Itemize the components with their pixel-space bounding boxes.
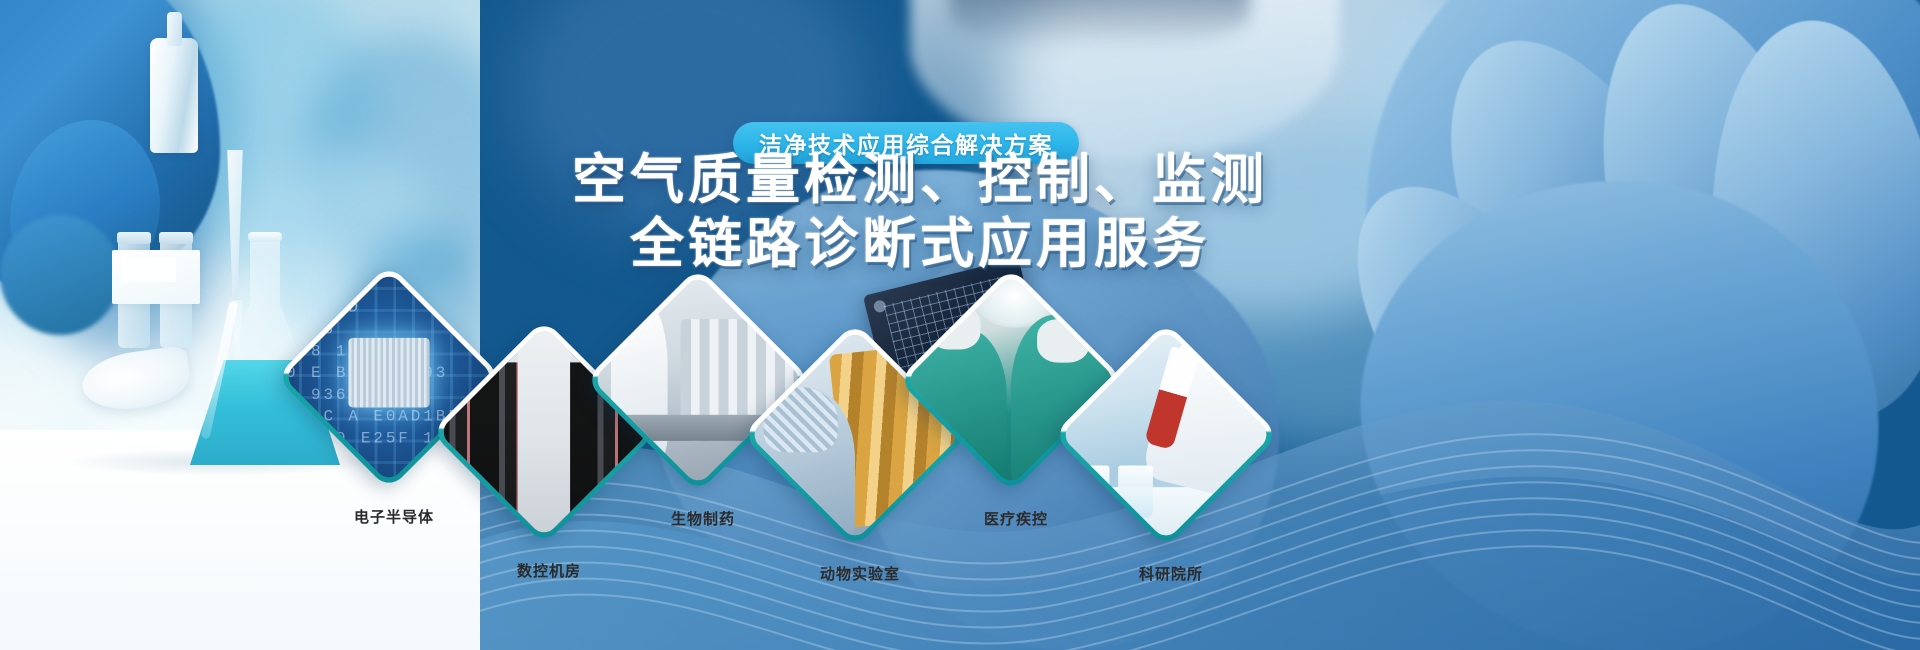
card-label-semiconductor: 电子半导体	[339, 506, 449, 527]
hero-banner: 洁净技术应用综合解决方案 空气质量检测、控制、监测 全链路诊断式应用服务 ТA …	[0, 0, 1920, 650]
lab-bench	[1060, 487, 1272, 541]
beaker	[1075, 465, 1110, 517]
aisle	[518, 326, 570, 538]
surgical-mask	[1037, 319, 1089, 363]
card-label-research: 科研院所	[1116, 563, 1226, 584]
industry-cards: ТA E2 F D 5926 7 8 1 E2C 0 E BF3 82693 7…	[0, 0, 1920, 650]
card-label-animal-lab: 动物实验室	[793, 563, 927, 584]
surgical-mask	[928, 306, 980, 350]
chip-die	[348, 338, 429, 408]
card-label-biopharma: 生物制药	[648, 508, 758, 529]
card-label-medical: 医疗疾控	[961, 508, 1071, 529]
beaker	[1118, 465, 1153, 517]
card-label-server-room: 数控机房	[494, 560, 604, 581]
